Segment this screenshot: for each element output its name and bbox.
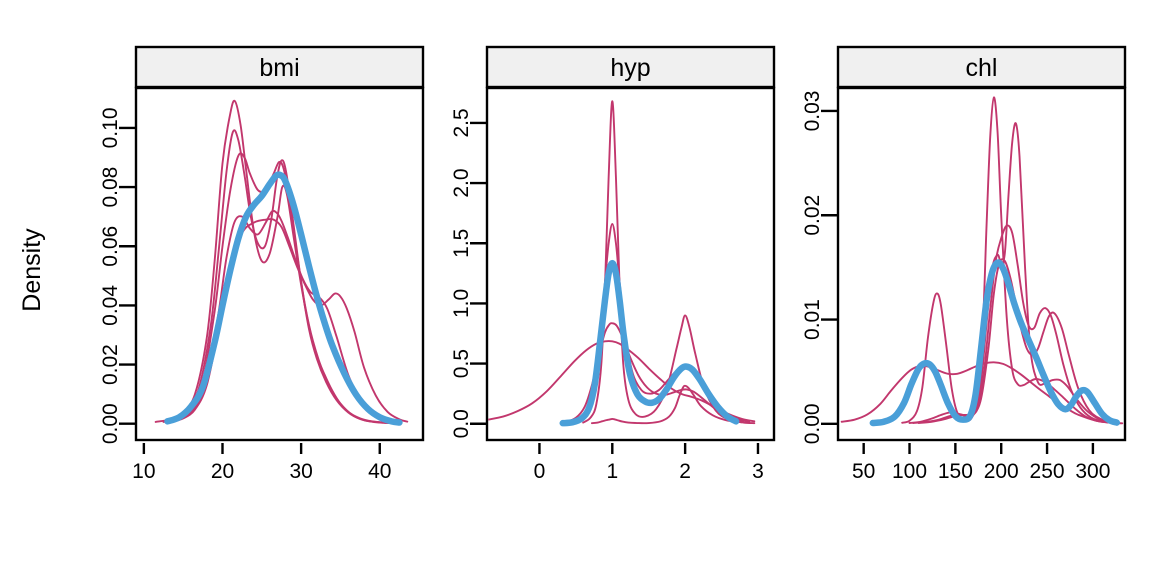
y-tick-label-chl-2: 0.02 <box>801 195 824 236</box>
x-tick-label-hyp-0: 0 <box>534 460 546 483</box>
x-tick-label-hyp-3: 3 <box>752 460 764 483</box>
y-tick-label-bmi-3: 0.06 <box>99 226 122 267</box>
panel-hyp: hyp0.00.51.01.52.02.50123 <box>450 47 774 483</box>
panel-border-bmi <box>136 88 423 440</box>
x-tick-label-chl-4: 250 <box>1030 460 1065 483</box>
x-tick-label-bmi-3: 40 <box>368 460 391 483</box>
panel-strip-label-hyp: hyp <box>610 54 650 82</box>
y-tick-label-chl-1: 0.01 <box>801 299 824 340</box>
x-tick-label-bmi-2: 30 <box>289 460 312 483</box>
panel-border-hyp <box>487 88 774 440</box>
y-tick-label-hyp-2: 1.0 <box>450 289 473 318</box>
y-tick-label-hyp-1: 0.5 <box>450 349 473 378</box>
x-tick-label-bmi-0: 10 <box>132 460 155 483</box>
y-axis-bmi: 0.000.020.040.060.080.10 <box>99 107 136 444</box>
y-tick-label-chl-0: 0.00 <box>801 403 824 444</box>
x-tick-label-chl-2: 150 <box>938 460 973 483</box>
x-tick-label-bmi-1: 20 <box>211 460 234 483</box>
panel-bmi: bmi0.000.020.040.060.080.1010203040 <box>99 47 423 483</box>
figure-canvas: bmi0.000.020.040.060.080.1010203040hyp0.… <box>0 0 1152 576</box>
panel-strip-label-bmi: bmi <box>259 54 299 82</box>
y-tick-label-hyp-5: 2.5 <box>450 108 473 137</box>
y-tick-label-bmi-1: 0.02 <box>99 344 122 385</box>
x-tick-label-hyp-1: 1 <box>606 460 618 483</box>
x-tick-label-chl-0: 50 <box>852 460 875 483</box>
y-axis-title: Density <box>18 228 46 312</box>
y-tick-label-bmi-5: 0.10 <box>99 107 122 148</box>
x-tick-label-chl-5: 300 <box>1075 460 1110 483</box>
y-tick-label-bmi-2: 0.04 <box>99 285 122 326</box>
x-tick-label-hyp-2: 2 <box>679 460 691 483</box>
y-tick-label-bmi-4: 0.08 <box>99 167 122 208</box>
y-tick-label-hyp-3: 1.5 <box>450 229 473 258</box>
density-plot-figure: bmi0.000.020.040.060.080.1010203040hyp0.… <box>0 0 1152 576</box>
x-axis-bmi: 10203040 <box>132 443 391 483</box>
x-axis-hyp: 0123 <box>534 443 764 483</box>
y-tick-label-hyp-0: 0.0 <box>450 409 473 438</box>
panel-chl: chl0.000.010.020.0350100150200250300 <box>801 47 1125 483</box>
x-tick-label-chl-1: 100 <box>892 460 927 483</box>
panel-strip-label-chl: chl <box>966 54 998 82</box>
y-tick-label-chl-3: 0.03 <box>801 91 824 132</box>
x-tick-label-chl-3: 200 <box>984 460 1019 483</box>
x-axis-chl: 50100150200250300 <box>852 443 1110 483</box>
y-axis-hyp: 0.00.51.01.52.02.5 <box>450 108 487 438</box>
y-tick-label-bmi-0: 0.00 <box>99 403 122 444</box>
y-axis-chl: 0.000.010.020.03 <box>801 91 838 445</box>
y-tick-label-hyp-4: 2.0 <box>450 168 473 197</box>
